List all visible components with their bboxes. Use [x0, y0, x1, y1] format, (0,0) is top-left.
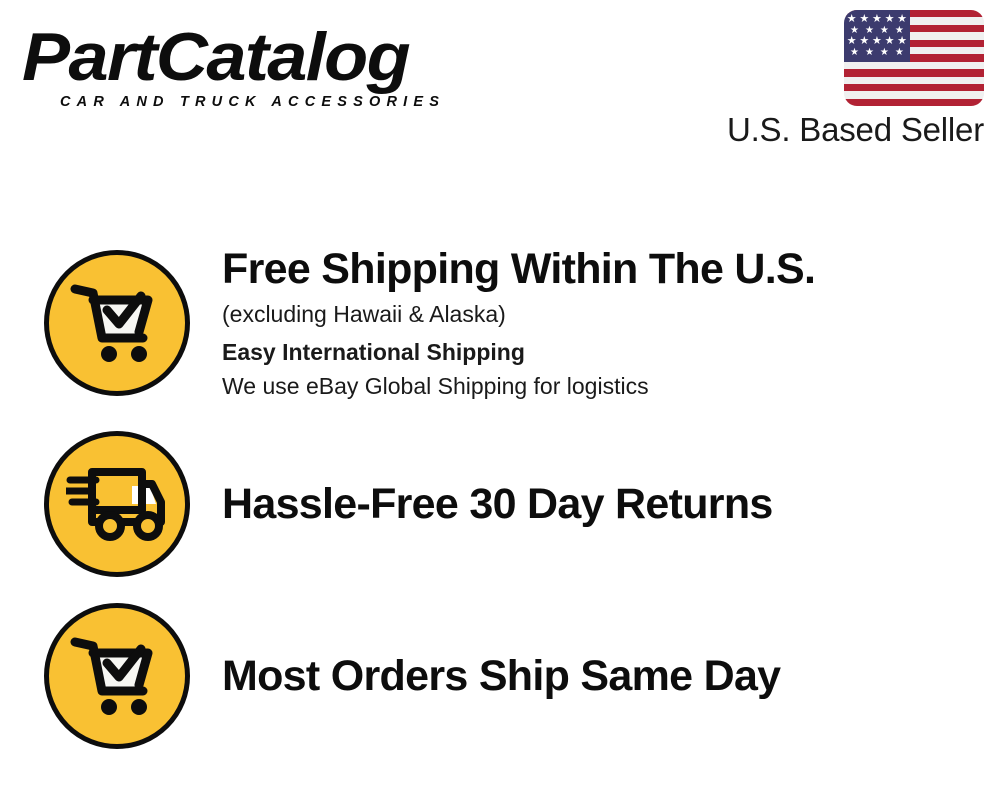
feature-row-returns: Hassle-Free 30 Day Returns: [0, 418, 1000, 590]
logo-tagline: CAR AND TRUCK ACCESSORIES: [60, 93, 492, 111]
flag-star: ★: [880, 47, 889, 58]
logo-wordmark: PartCatalog: [22, 22, 520, 92]
flag-star: ★: [850, 47, 859, 58]
feature-row-same-day-shipping: Most Orders Ship Same Day: [0, 590, 1000, 762]
flag-star: ★: [872, 14, 882, 25]
flag-stripe: [844, 84, 984, 91]
feature-note: (excluding Hawaii & Alaska): [222, 298, 980, 330]
feature-title: Hassle-Free 30 Day Returns: [222, 479, 980, 529]
banner-header: PartCatalog CAR AND TRUCK ACCESSORIES: [0, 0, 1000, 175]
flag-star: ★: [885, 36, 895, 47]
feature-title: Most Orders Ship Same Day: [222, 651, 980, 701]
flag-stripe: [844, 62, 984, 69]
seller-info-banner: PartCatalog CAR AND TRUCK ACCESSORIES: [0, 0, 1000, 800]
flag-stripe: [844, 91, 984, 98]
feature-text-block: Free Shipping Within The U.S. (excluding…: [222, 244, 1000, 402]
feature-title: Free Shipping Within The U.S.: [222, 244, 980, 294]
flag-star: ★: [897, 14, 907, 25]
flag-star-row: ★ ★ ★ ★: [844, 48, 910, 58]
flag-stripe: [844, 69, 984, 76]
flag-star: ★: [897, 36, 907, 47]
flag-star: ★: [847, 14, 857, 25]
feature-text-block: Hassle-Free 30 Day Returns: [222, 479, 1000, 529]
us-based-seller-label: U.S. Based Seller: [694, 110, 984, 150]
flag-star-row: ★ ★ ★ ★: [844, 25, 910, 35]
brand-logo: PartCatalog CAR AND TRUCK ACCESSORIES: [22, 22, 492, 111]
flag-star: ★: [885, 14, 895, 25]
feature-subheading: Easy International Shipping: [222, 336, 980, 368]
feature-row-free-shipping: Free Shipping Within The U.S. (excluding…: [0, 228, 1000, 418]
flag-stripe: [844, 99, 984, 106]
flag-star-row: ★ ★ ★ ★ ★: [844, 36, 910, 46]
flag-star-row: ★ ★ ★ ★ ★: [844, 14, 910, 24]
feature-text-block: Most Orders Ship Same Day: [222, 651, 1000, 701]
feature-detail: We use eBay Global Shipping for logistic…: [222, 370, 980, 402]
delivery-truck-icon: [44, 431, 190, 577]
flag-star: ★: [847, 36, 857, 47]
flag-star: ★: [865, 47, 874, 58]
us-flag-icon: ★ ★ ★ ★ ★ ★ ★ ★ ★ ★ ★ ★: [844, 10, 984, 106]
flag-star: ★: [859, 14, 869, 25]
flag-stripe: [844, 77, 984, 84]
flag-star: ★: [859, 36, 869, 47]
shopping-cart-check-icon: [44, 250, 190, 396]
flag-stars: ★ ★ ★ ★ ★ ★ ★ ★ ★ ★ ★ ★: [844, 10, 910, 62]
shopping-cart-check-icon: [44, 603, 190, 749]
flag-star: ★: [895, 47, 904, 58]
us-based-seller-badge: ★ ★ ★ ★ ★ ★ ★ ★ ★ ★ ★ ★: [694, 10, 984, 150]
flag-star: ★: [872, 36, 882, 47]
